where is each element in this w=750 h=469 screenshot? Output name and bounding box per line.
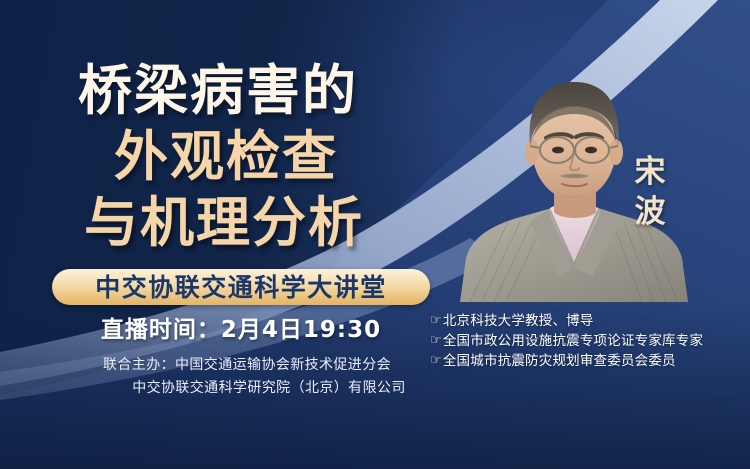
credential-text-2: 全国市政公用设施抗震专项论证专家库专家 [443, 331, 703, 351]
credential-text-3: 全国城市抗震防灾规划审查委员会委员 [443, 351, 676, 371]
organizer-line-2: 中交协联交通科学研究院（北京）有限公司 [52, 377, 442, 400]
pointing-hand-icon: ☞ [430, 311, 442, 331]
pointing-hand-icon: ☞ [430, 331, 442, 351]
speaker-credentials: ☞ 北京科技大学教授、博导 ☞ 全国市政公用设施抗震专项论证专家库专家 ☞ 全国… [430, 311, 746, 371]
title-line-2: 外观检查 [0, 124, 438, 190]
credential-text-1: 北京科技大学教授、博导 [443, 311, 594, 331]
pointing-hand-icon: ☞ [430, 351, 442, 371]
credential-item-1: ☞ 北京科技大学教授、博导 [430, 311, 746, 331]
credential-item-2: ☞ 全国市政公用设施抗震专项论证专家库专家 [430, 331, 746, 351]
speaker-name-char-2: 波 [628, 192, 672, 232]
credential-item-3: ☞ 全国城市抗震防灾规划审查委员会委员 [430, 351, 746, 371]
speaker-name-char-1: 宋 [628, 152, 672, 192]
title-line-3: 与机理分析 [0, 190, 438, 256]
organizers-block: 联合主办：中国交通运输协会新技术促进分会 中交协联交通科学研究院（北京）有限公司 [52, 354, 442, 400]
series-badge: 中交协联交通科学大讲堂 [52, 269, 430, 305]
title-line-1: 桥梁病害的 [0, 58, 438, 124]
organizer-line-1: 联合主办：中国交通运输协会新技术促进分会 [52, 354, 442, 377]
series-badge-label: 中交协联交通科学大讲堂 [95, 275, 387, 300]
poster-title: 桥梁病害的 外观检查 与机理分析 [0, 58, 438, 256]
live-time-label: 直播时间：2月4日19:30 [52, 310, 430, 344]
webinar-poster: 桥梁病害的 外观检查 与机理分析 中交协联交通科学大讲堂 直播时间：2月4日19… [0, 0, 750, 469]
speaker-name: 宋 波 [628, 152, 672, 232]
